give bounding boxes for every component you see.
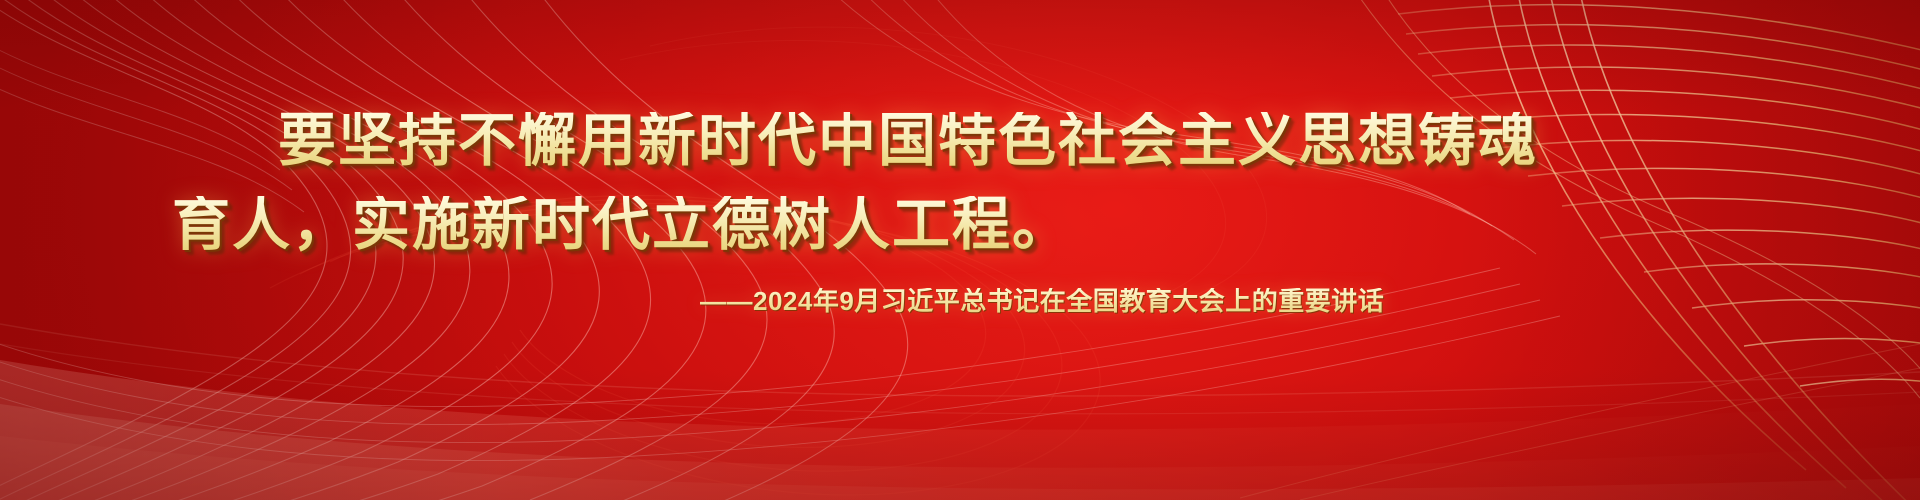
quote-line-2: 育人，实施新时代立德树人工程。 bbox=[172, 196, 1072, 254]
quote-line-1: 要坚持不懈用新时代中国特色社会主义思想铸魂 bbox=[278, 112, 1538, 170]
red-propaganda-banner: 要坚持不懈用新时代中国特色社会主义思想铸魂 育人，实施新时代立德树人工程。 ——… bbox=[0, 0, 1920, 500]
quote-attribution: ——2024年9月习近平总书记在全国教育大会上的重要讲话 bbox=[700, 288, 1384, 314]
banner-content: 要坚持不懈用新时代中国特色社会主义思想铸魂 育人，实施新时代立德树人工程。 ——… bbox=[0, 0, 1920, 500]
